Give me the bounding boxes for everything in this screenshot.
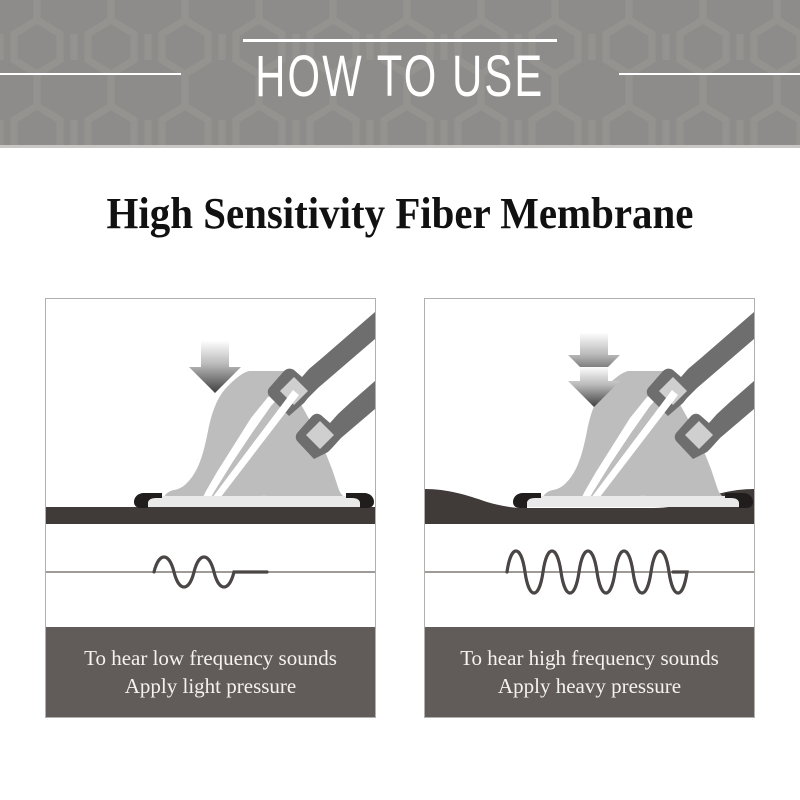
caption-low-frequency: To hear low frequency sounds Apply light… <box>46 627 375 717</box>
membrane-substrate-flat <box>46 507 375 524</box>
caption-line-1: To hear low frequency sounds <box>84 644 337 672</box>
base-rail <box>146 496 277 507</box>
banner-bottom-divider <box>0 145 800 148</box>
caption-line-1: To hear high frequency sounds <box>460 644 719 672</box>
panel-high-frequency: To hear high frequency sounds Apply heav… <box>424 298 755 718</box>
wave-area-high-frequency <box>425 524 754 627</box>
banner-rule-left <box>0 73 181 75</box>
banner-rule-top <box>243 39 557 42</box>
illustration-panels: To hear low frequency sounds Apply light… <box>0 298 800 718</box>
banner-title: HOW TO USE <box>255 46 544 108</box>
wave-area-low-frequency <box>46 524 375 627</box>
illustration-high-frequency <box>425 299 754 524</box>
banner-rule-right <box>619 73 800 75</box>
caption-line-2: Apply light pressure <box>125 672 296 700</box>
banner-title-group: HOW TO USE <box>181 39 619 110</box>
header-banner: HOW TO USE <box>0 0 800 148</box>
caption-line-2: Apply heavy pressure <box>498 672 681 700</box>
illustration-low-frequency <box>46 299 375 524</box>
panel-low-frequency: To hear low frequency sounds Apply light… <box>45 298 376 718</box>
base-rail <box>525 496 656 507</box>
caption-high-frequency: To hear high frequency sounds Apply heav… <box>425 627 754 717</box>
page-title: High Sensitivity Fiber Membrane <box>28 188 772 240</box>
banner-content: HOW TO USE <box>0 0 800 148</box>
